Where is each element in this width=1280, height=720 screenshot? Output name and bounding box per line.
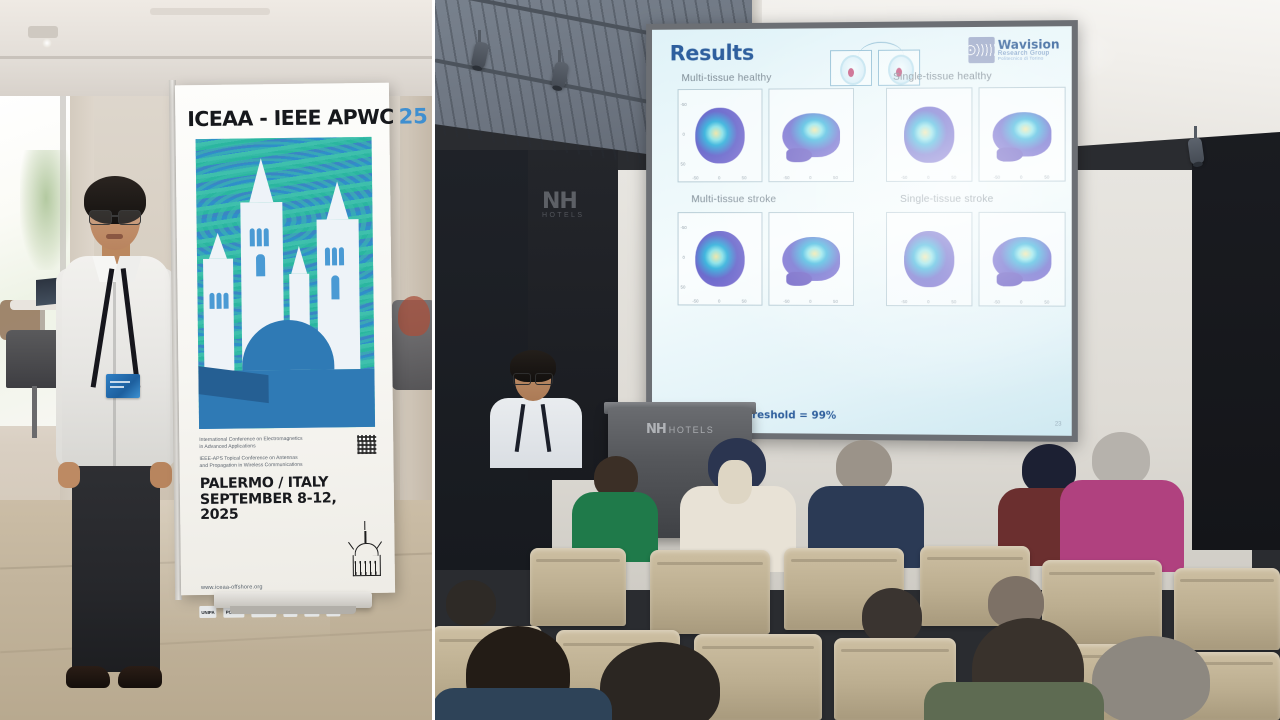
conference-badge	[106, 374, 140, 398]
projection-screen-frame: Results Wavision Research Group Politecn…	[646, 20, 1078, 442]
right-photo-presentation: NH HOTELS Results Wavision	[432, 0, 1280, 720]
banner-subtitle-4: and Propagation in Wireless Communicatio…	[200, 461, 350, 470]
attendee-figure	[56, 176, 176, 606]
photo-collage: ICEAA - IEEE APWC 25	[0, 0, 1280, 720]
palermo-skyline-silhouette	[196, 179, 374, 371]
attendee-left-hand	[58, 462, 80, 488]
sponsor-logo: UNIPA	[199, 606, 216, 618]
banner-location-year: 2025	[200, 506, 370, 524]
glasses-icon	[88, 210, 142, 223]
skyline-tower-1	[203, 259, 234, 371]
palermo-landmark-icon	[348, 521, 383, 597]
brain-plot: -50050	[886, 87, 972, 182]
banner-title-year: 25	[398, 104, 428, 128]
qr-code-icon	[357, 435, 376, 454]
wavision-logo: Wavision Research Group Politecnico di T…	[969, 36, 1060, 63]
banner-base-foot	[230, 606, 356, 614]
projected-slide: Results Wavision Research Group Politecn…	[652, 26, 1072, 436]
quadrant-label-multi-healthy: Multi-tissue healthy	[682, 73, 772, 85]
attendee-trousers	[72, 462, 160, 672]
banner-title: ICEAA - IEEE APWC 25	[187, 105, 379, 131]
banner-location-block: PALERMO / ITALY SEPTEMBER 8-12, 2025	[200, 475, 371, 524]
quadrant-label-single-healthy: Single-tissue healthy	[893, 71, 992, 83]
head-icon-front	[830, 50, 872, 86]
nh-sign-brand: NH	[542, 192, 606, 212]
brain-plot: -50050 -50050	[678, 89, 763, 183]
attendee-left-shoe	[66, 666, 110, 688]
banner-subtitle-block: International Conference on Electromagne…	[199, 435, 349, 474]
lobby-wall-edge	[400, 80, 432, 500]
audience-chair	[530, 548, 626, 626]
slide-page-number: 23	[1055, 422, 1062, 428]
audience-torso-foreground	[432, 688, 612, 720]
speaker-glasses-icon	[513, 373, 553, 383]
quadrant-label-single-stroke: Single-tissue stroke	[900, 194, 994, 205]
audience-headscarf	[718, 460, 752, 504]
ceiling-spotlight-icon	[42, 38, 52, 48]
wavision-logo-name: Wavision	[998, 38, 1060, 51]
brain-plot: -50050	[979, 87, 1066, 182]
collage-divider	[432, 0, 435, 720]
attendee-right-hand	[150, 462, 172, 488]
attendee-right-shoe	[118, 666, 162, 688]
banner-subtitle-2: in Advanced Applications	[199, 443, 349, 452]
audience-head	[1092, 432, 1150, 486]
audience-area	[432, 430, 1280, 720]
background-person	[398, 296, 430, 336]
lobby-chair-leg	[32, 386, 37, 438]
left-photo-lobby-banner: ICEAA - IEEE APWC 25	[0, 0, 432, 720]
banner-title-main: ICEAA - IEEE APWC	[187, 105, 394, 132]
nh-sign-subbrand: HOTELS	[542, 212, 606, 219]
wavision-logo-mark-icon	[969, 37, 995, 63]
audience-head	[862, 588, 922, 644]
audience-torso-magenta	[1060, 480, 1184, 572]
brain-plot: -50050	[768, 212, 854, 306]
conference-roll-up-banner: ICEAA - IEEE APWC 25	[175, 83, 395, 596]
slide-title: Results	[670, 41, 754, 65]
audience-chair	[1174, 568, 1280, 650]
audience-head	[836, 440, 892, 492]
banner-artwork	[196, 137, 376, 429]
ceiling-seam	[0, 56, 432, 59]
audience-head	[446, 580, 496, 626]
audience-torso-olive	[924, 682, 1104, 720]
banner-website-url: www.iceaa-offshore.org	[201, 584, 263, 591]
brain-plot: -50050 -50050	[678, 212, 763, 306]
audience-chair	[650, 550, 770, 634]
brain-plot: -50050	[979, 212, 1066, 307]
attendee-mouth	[106, 234, 123, 239]
attendee-shirt	[62, 256, 170, 466]
quadrant-label-multi-stroke: Multi-tissue stroke	[691, 194, 776, 205]
shirt-placket	[113, 276, 116, 466]
brain-plot: -50050	[886, 212, 972, 306]
brain-plot: -50050	[768, 88, 854, 182]
audience-head-foreground	[1092, 636, 1210, 720]
ceiling-vent-icon	[28, 26, 58, 38]
ceiling-rail	[150, 8, 270, 15]
nh-hotels-wall-sign: NH HOTELS	[542, 192, 606, 232]
wavision-logo-affiliation: Politecnico di Torino	[998, 56, 1060, 61]
